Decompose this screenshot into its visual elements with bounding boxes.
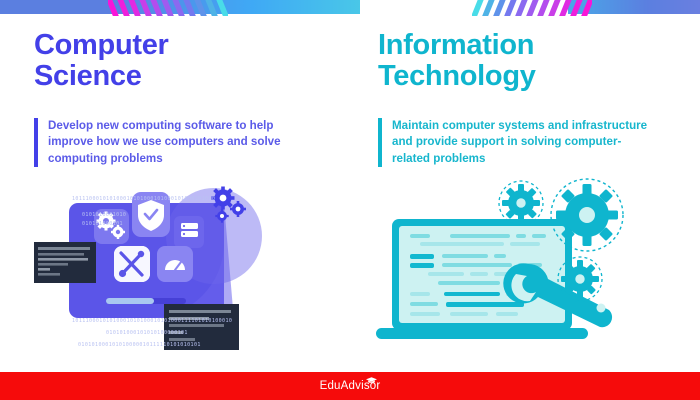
panel-computer-science-inner: Computer Science Develop new computing s… (14, 18, 346, 368)
laptop-base (376, 328, 588, 339)
binary-string: 010101000101 (82, 221, 123, 227)
title-line-2: Technology (378, 61, 668, 92)
gear-icon-small-top (499, 181, 543, 225)
it-support-illustration (358, 178, 688, 363)
progress-fill (106, 298, 154, 304)
accent-bar-computer-science (34, 118, 38, 167)
it-illustration-svg (358, 178, 688, 363)
description-block-computer-science: Develop new computing software to help i… (34, 118, 314, 167)
binary-string: 0101010001010 (82, 212, 126, 218)
title-line-1: Computer (34, 30, 324, 61)
panel-information-technology-inner: Information Technology Maintain computer… (358, 18, 690, 368)
footer-bar: EduAdvisor (0, 372, 700, 400)
diagonal-stripes-left (108, 0, 228, 16)
binary-string: 1011100010101000101010001010100011110101… (72, 318, 232, 324)
infographic-canvas: Computer Science Develop new computing s… (0, 0, 700, 400)
brand-logo[interactable]: EduAdvisor (0, 372, 700, 400)
panel-computer-science: Computer Science Develop new computing s… (14, 18, 346, 368)
terminal-window-left (34, 242, 96, 283)
description-computer-science: Develop new computing software to help i… (48, 118, 314, 167)
binary-string: 010101000101010100000101 (106, 330, 188, 336)
title-line-2: Science (34, 61, 324, 92)
accent-bar-information-technology (378, 118, 382, 167)
title-line-1: Information (378, 30, 668, 61)
description-information-technology: Maintain computer systems and infrastruc… (392, 118, 658, 167)
page-title-computer-science: Computer Science (34, 30, 324, 93)
diagonal-stripes-right (472, 0, 592, 16)
page-title-information-technology: Information Technology (378, 30, 668, 93)
binary-string: 010101000101010000010111110101010101 (78, 342, 201, 348)
gear-icon-large (551, 179, 623, 251)
description-block-information-technology: Maintain computer systems and infrastruc… (378, 118, 658, 167)
software-development-illustration: 1011100010101000101010001010001010001010… (14, 178, 344, 363)
graduation-cap-icon (366, 377, 377, 384)
panel-information-technology: Information Technology Maintain computer… (358, 18, 690, 368)
binary-string: 1011100010101000101010001010001010001010… (72, 196, 215, 202)
